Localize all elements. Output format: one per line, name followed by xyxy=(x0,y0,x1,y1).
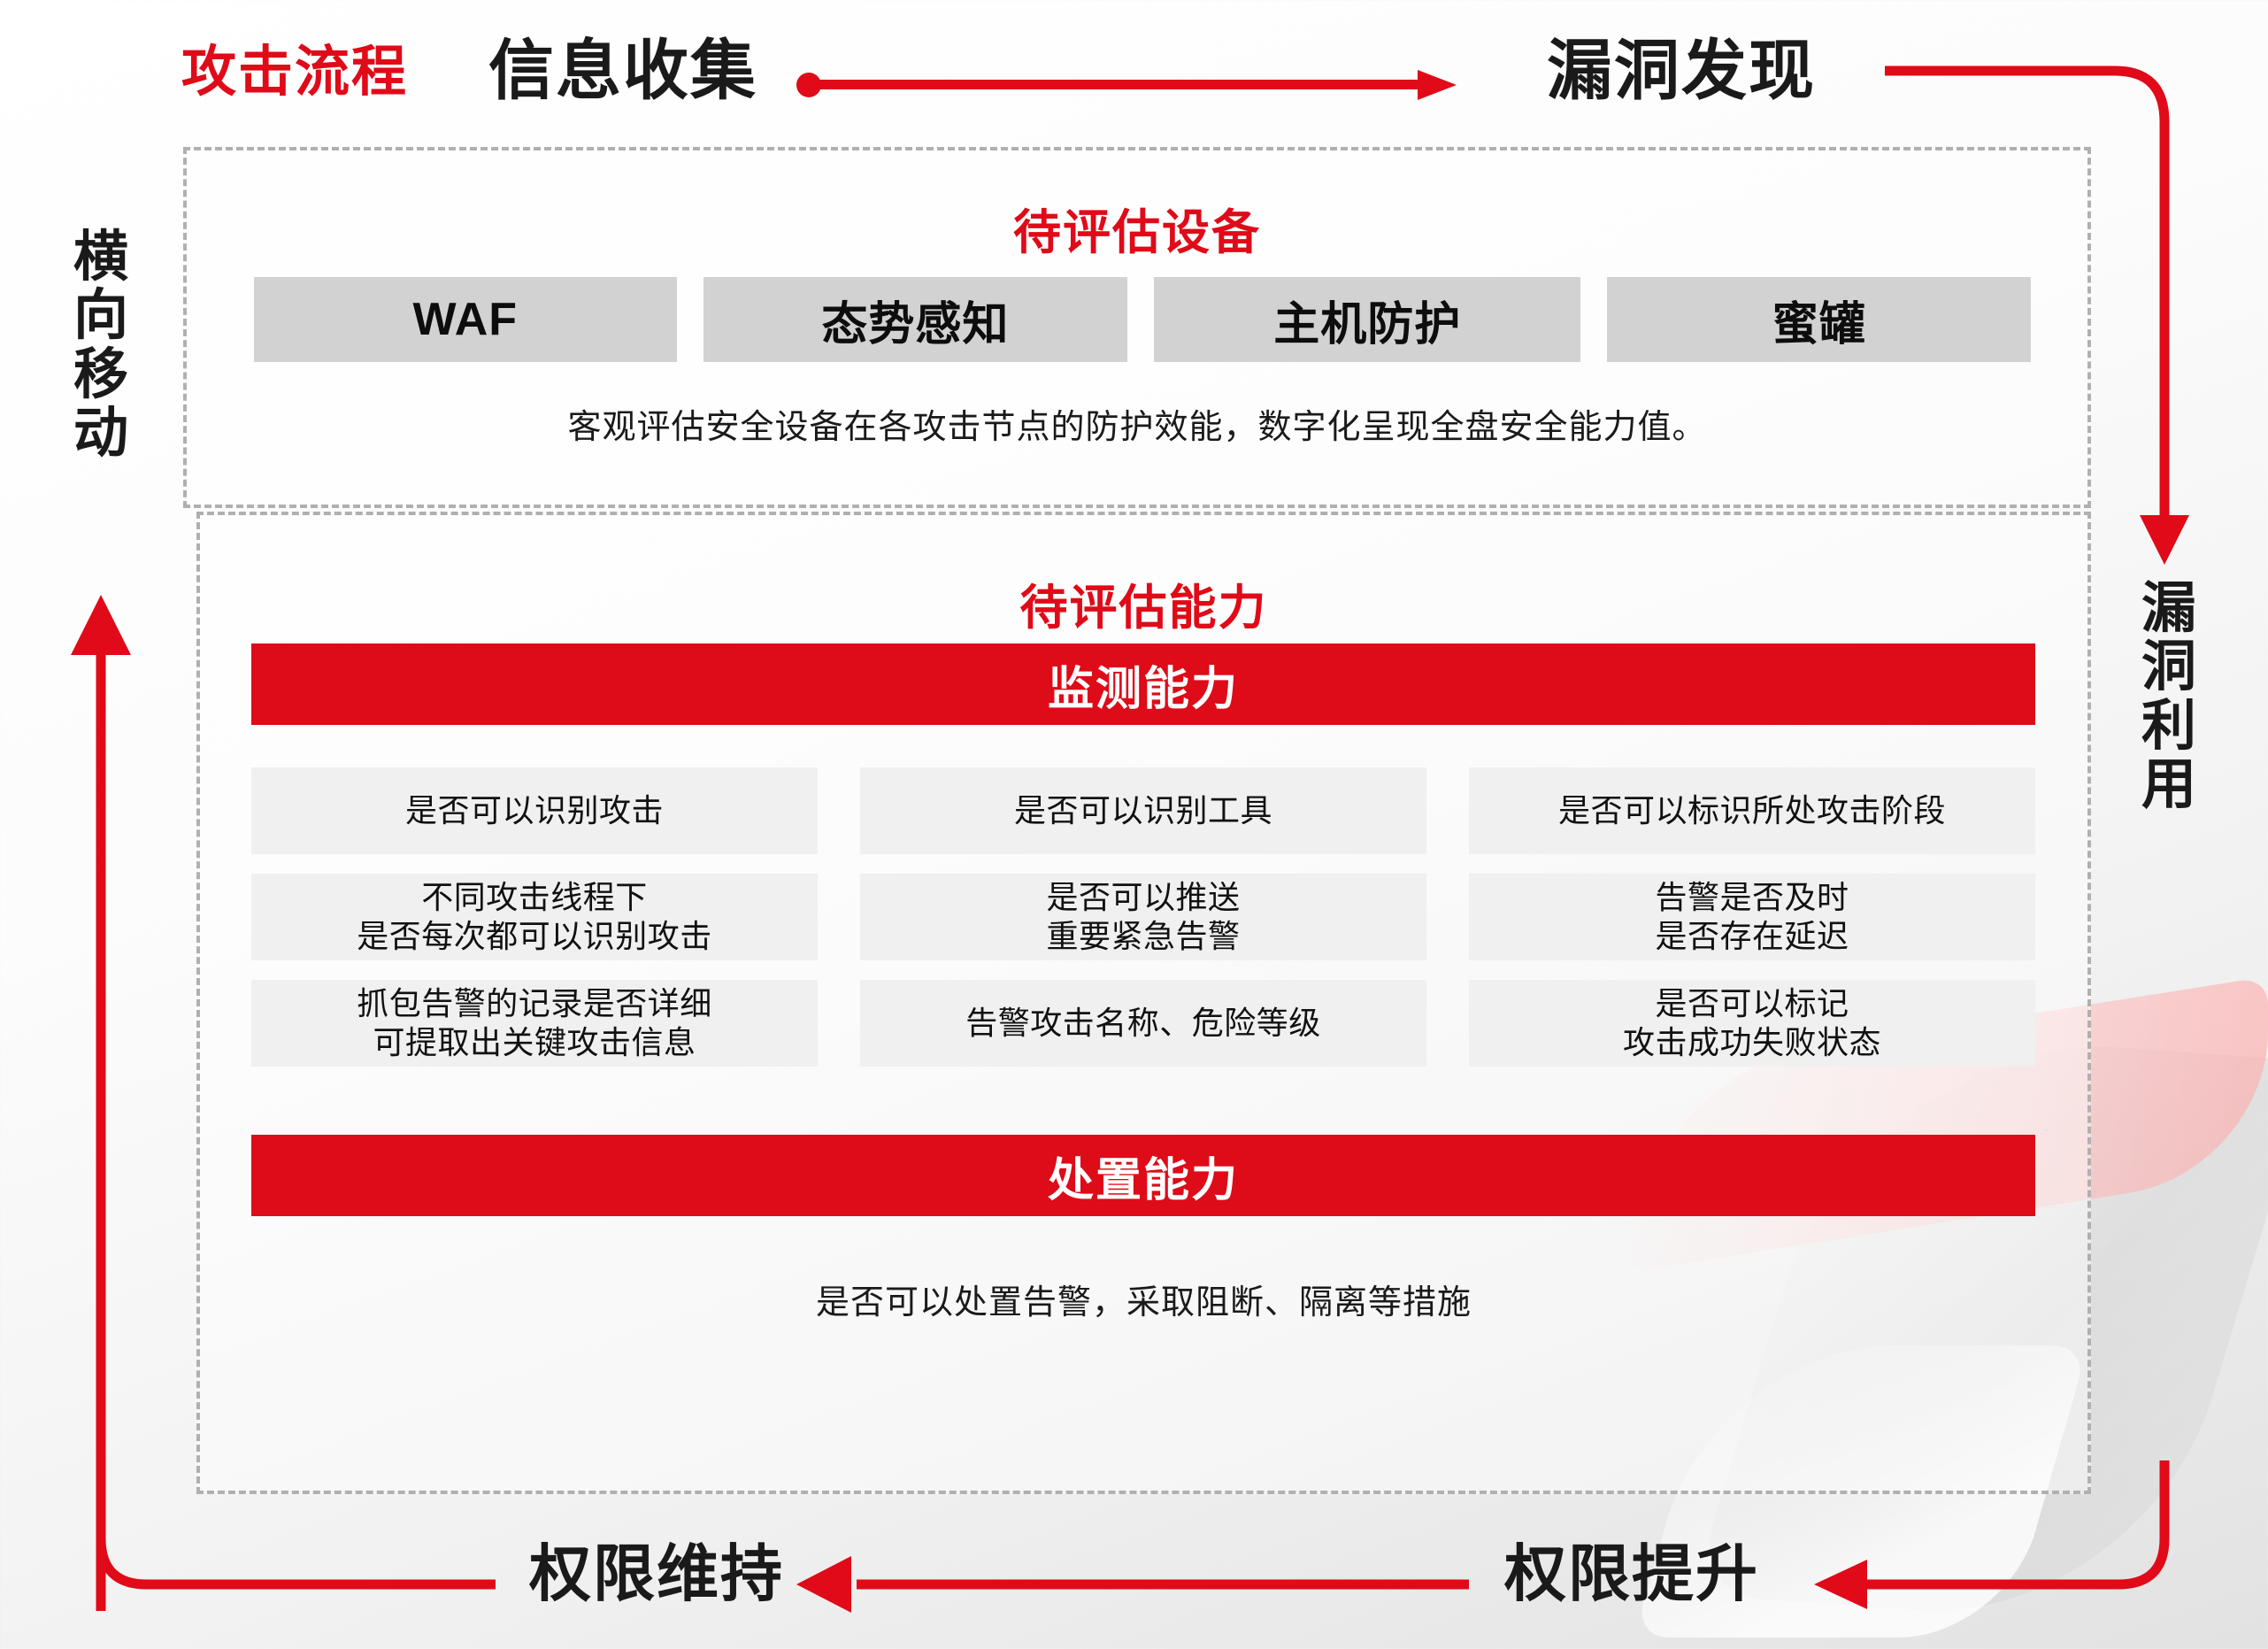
capability-item-line: 是否每次都可以识别攻击 xyxy=(357,917,712,956)
vuln-exploit-char-4: 用 xyxy=(2137,756,2201,814)
capability-item-line: 是否可以识别攻击 xyxy=(405,791,664,830)
capability-item-line: 是否可以标记 xyxy=(1623,984,1881,1023)
capability-item[interactable]: 是否可以标记 攻击成功失败状态 xyxy=(1469,980,2035,1067)
capability-item[interactable]: 告警是否及时 是否存在延迟 xyxy=(1469,874,2035,960)
capability-item-line: 告警是否及时 xyxy=(1655,878,1849,917)
attack-flow-label: 攻击流程 xyxy=(181,27,408,106)
capability-item[interactable]: 是否可以识别工具 xyxy=(860,767,1426,854)
lateral-char-3: 移 xyxy=(69,346,133,405)
stage-label-vuln-exploit: 漏 洞 利 用 xyxy=(2137,580,2201,814)
device-box-honeypot[interactable]: 蜜罐 xyxy=(1607,277,2031,362)
stage-label-vuln-discovery: 漏洞发现 xyxy=(1547,18,1816,112)
stage-label-lateral-movement: 横 向 移 动 xyxy=(69,228,133,463)
device-box-situational-awareness[interactable]: 态势感知 xyxy=(703,277,1128,362)
capability-item[interactable]: 抓包告警的记录是否详细 可提取出关键攻击信息 xyxy=(251,980,818,1067)
vuln-exploit-char-3: 利 xyxy=(2137,697,2201,756)
capability-item-line: 可提取出关键攻击信息 xyxy=(357,1023,712,1062)
capability-item[interactable]: 是否可以标识所处攻击阶段 xyxy=(1469,767,2035,854)
devices-panel-title: 待评估设备 xyxy=(187,193,2087,263)
capability-item[interactable]: 告警攻击名称、危险等级 xyxy=(860,980,1426,1067)
flow-arrow-recon-to-vuln xyxy=(796,68,1469,100)
devices-panel-note: 客观评估安全设备在各攻击节点的防护效能，数字化呈现全盘安全能力值。 xyxy=(187,399,2087,448)
lateral-char-4: 动 xyxy=(69,405,133,463)
device-box-host-protection[interactable]: 主机防护 xyxy=(1154,277,1580,362)
capability-item-grid: 是否可以识别攻击 是否可以识别工具 是否可以标识所处攻击阶段 不同攻击线程下 是… xyxy=(251,767,2035,1067)
capability-item[interactable]: 不同攻击线程下 是否每次都可以识别攻击 xyxy=(251,874,818,960)
capability-item[interactable]: 是否可以识别攻击 xyxy=(251,767,818,854)
capability-bar-dispose: 处置能力 xyxy=(251,1135,2035,1216)
capability-item-line: 是否可以推送 xyxy=(1046,878,1240,917)
lateral-char-1: 横 xyxy=(69,228,133,287)
arrow-head-icon xyxy=(1418,70,1457,100)
vuln-exploit-char-2: 洞 xyxy=(2137,638,2201,697)
capability-item-line: 攻击成功失败状态 xyxy=(1623,1023,1881,1062)
device-box-waf[interactable]: WAF xyxy=(254,277,677,362)
device-box-row: WAF 态势感知 主机防护 蜜罐 xyxy=(254,277,2031,362)
capability-item-line: 不同攻击线程下 xyxy=(357,878,712,917)
devices-panel: 待评估设备 WAF 态势感知 主机防护 蜜罐 客观评估安全设备在各攻击节点的防护… xyxy=(183,147,2091,508)
stage-label-recon: 信息收集 xyxy=(488,18,757,112)
capabilities-panel-title: 待评估能力 xyxy=(200,568,2087,638)
vuln-exploit-char-1: 漏 xyxy=(2137,580,2201,638)
dispose-note: 是否可以处置告警，采取阻断、隔离等措施 xyxy=(200,1275,2087,1323)
capability-item-line: 重要紧急告警 xyxy=(1046,917,1240,956)
capability-item[interactable]: 是否可以推送 重要紧急告警 xyxy=(860,874,1426,960)
diagram-canvas: 攻击流程 信息收集 漏洞发现 漏 洞 利 用 权限维持 权限提升 横 向 移 xyxy=(0,0,2268,1649)
lateral-char-2: 向 xyxy=(69,287,133,345)
capabilities-panel: 待评估能力 监测能力 是否可以识别攻击 是否可以识别工具 是否可以标识所处攻击阶… xyxy=(196,512,2091,1494)
capability-item-line: 是否可以识别工具 xyxy=(1014,791,1272,830)
capability-item-line: 抓包告警的记录是否详细 xyxy=(357,984,712,1023)
capability-bar-monitor: 监测能力 xyxy=(251,643,2035,725)
stage-label-persistence: 权限维持 xyxy=(529,1524,784,1614)
capability-item-line: 是否可以标识所处攻击阶段 xyxy=(1558,791,1946,830)
capability-item-line: 告警攻击名称、危险等级 xyxy=(965,1004,1321,1043)
stage-label-priv-escalation: 权限提升 xyxy=(1504,1524,1759,1614)
arrow-shaft xyxy=(814,80,1425,89)
capability-item-line: 是否存在延迟 xyxy=(1655,917,1849,956)
